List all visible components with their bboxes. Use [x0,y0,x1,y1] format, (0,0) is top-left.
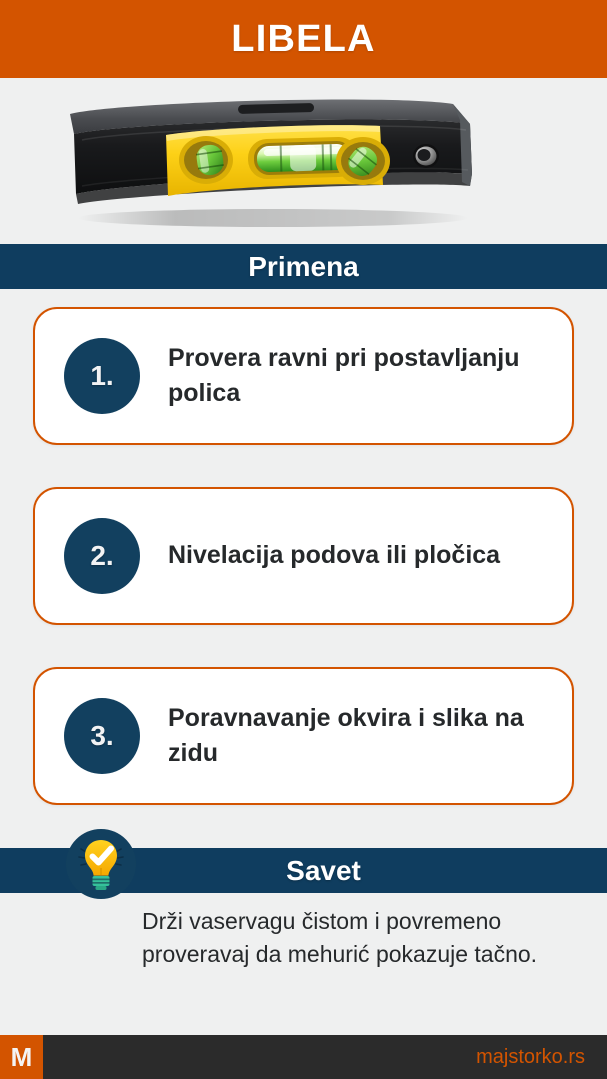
list-item: 2. Nivelacija podova ili pločica [33,487,574,625]
section-title-savet: Savet [286,855,361,887]
step-number-badge: 2. [64,518,140,594]
step-number-badge: 1. [64,338,140,414]
footer-bar: M majstorko.rs [0,1035,607,1079]
hero-image-area [0,78,607,244]
list-item: 1. Provera ravni pri postavljanju polica [33,307,574,445]
list-item-label: Provera ravni pri postavljanju polica [168,341,552,412]
section-title-primena: Primena [248,251,359,283]
brand-logo: M [0,1035,43,1079]
step-number-badge: 3. [64,698,140,774]
spirit-level-illustration [58,90,488,230]
infographic-page: LIBELA [0,0,607,1079]
list-item-label: Nivelacija podova ili pločica [168,538,500,574]
site-url: majstorko.rs [476,1046,585,1069]
page-title: LIBELA [231,18,375,61]
header-bar: LIBELA [0,0,607,78]
lightbulb-check-icon [66,829,136,899]
tip-text: Drži vaservagu čistom i povremeno prover… [142,905,582,970]
spirit-level-photo [58,90,488,230]
list-item: 3. Poravnavanje okvira i slika na zidu [33,667,574,805]
section-header-primena: Primena [0,244,607,289]
lightbulb-check-glyph [75,837,127,891]
list-item-label: Poravnavanje okvira i slika na zidu [168,701,552,772]
